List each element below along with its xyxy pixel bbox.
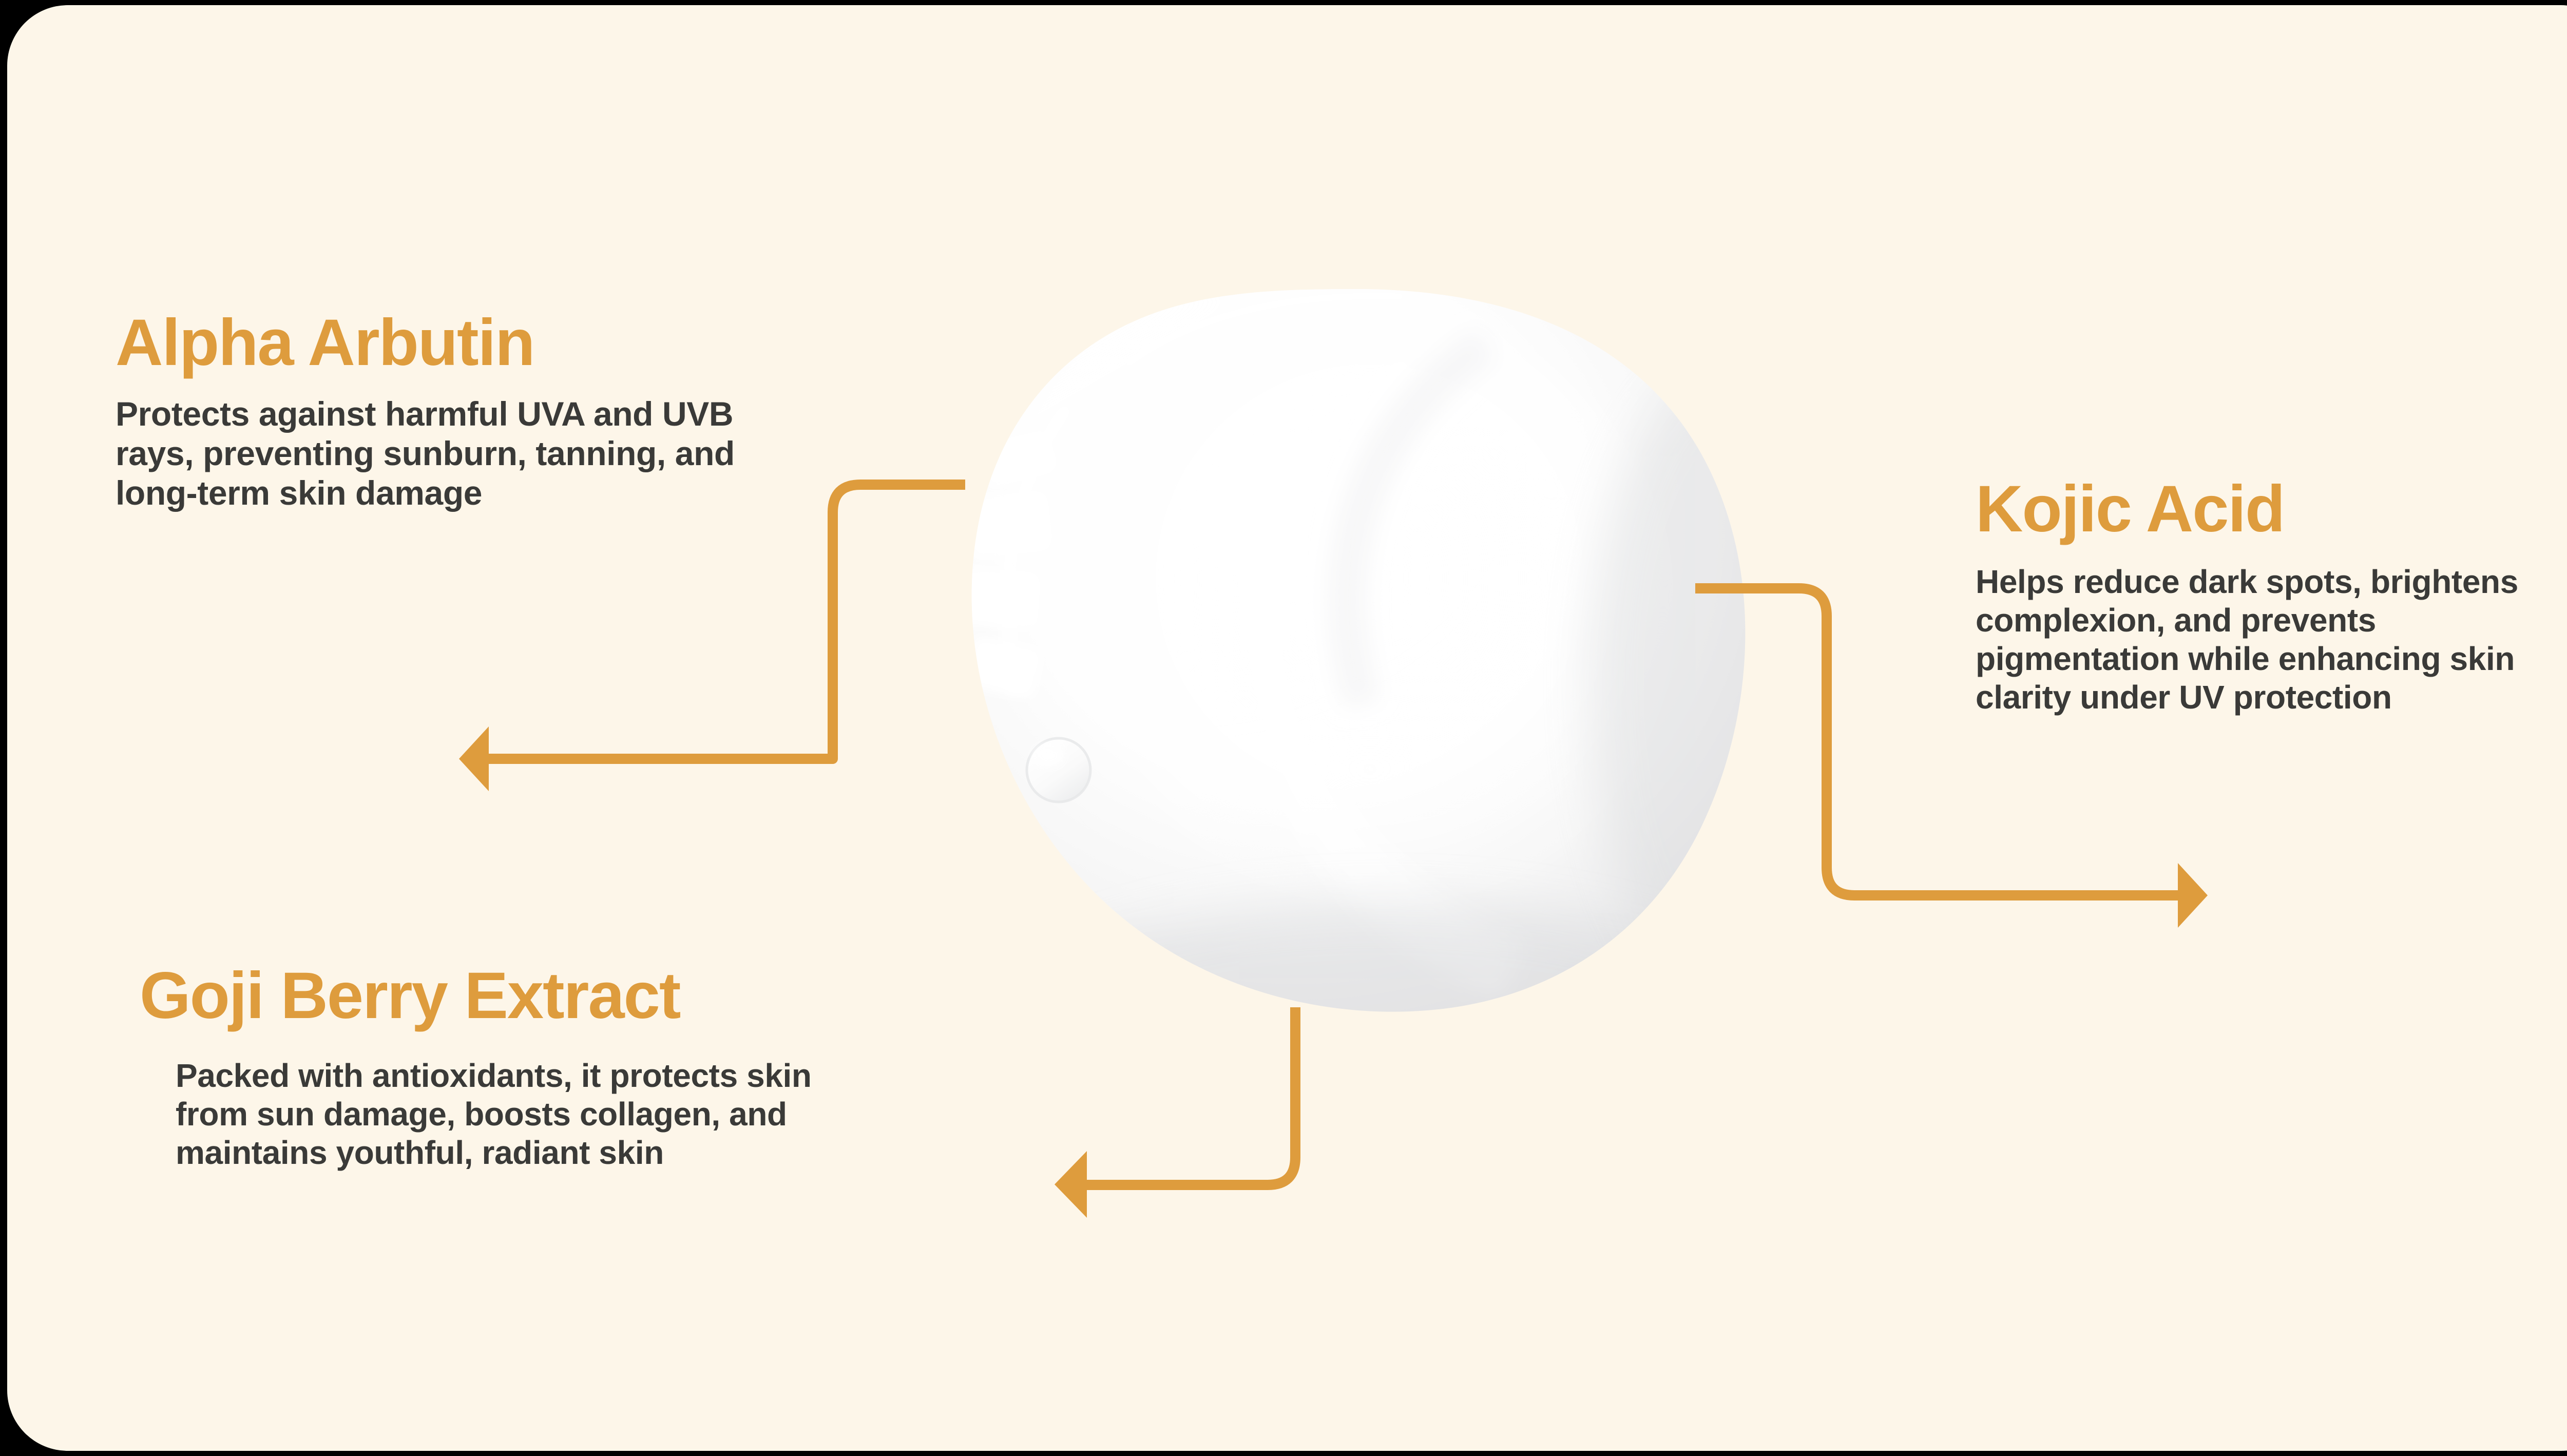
body-goji-berry-extract: Packed with antioxidants, it protects sk… [176, 1057, 858, 1172]
heading-alpha-arbutin: Alpha Arbutin [116, 310, 809, 376]
infographic-card: Alpha Arbutin Protects against harmful U… [7, 5, 2567, 1451]
ingredient-block-goji-berry-extract: Goji Berry Extract Packed with antioxida… [140, 963, 1012, 1172]
arrow-left-alpha-arbutin [459, 485, 965, 791]
ingredient-block-kojic-acid: Kojic Acid Helps reduce dark spots, brig… [1976, 476, 2567, 717]
arrow-down-left-goji-berry [1055, 1007, 1295, 1218]
arrowhead-left-goji-berry [1055, 1151, 1087, 1218]
body-kojic-acid: Helps reduce dark spots, brightens compl… [1976, 563, 2567, 717]
ingredient-block-alpha-arbutin: Alpha Arbutin Protects against harmful U… [116, 310, 809, 513]
arrowhead-left-alpha-arbutin [459, 726, 489, 791]
body-alpha-arbutin: Protects against harmful UVA and UVB ray… [116, 394, 752, 513]
heading-goji-berry-extract: Goji Berry Extract [140, 963, 1012, 1029]
connector-arrows [7, 5, 2567, 1451]
heading-kojic-acid: Kojic Acid [1976, 476, 2567, 542]
arrowhead-right-kojic-acid [2178, 863, 2208, 928]
